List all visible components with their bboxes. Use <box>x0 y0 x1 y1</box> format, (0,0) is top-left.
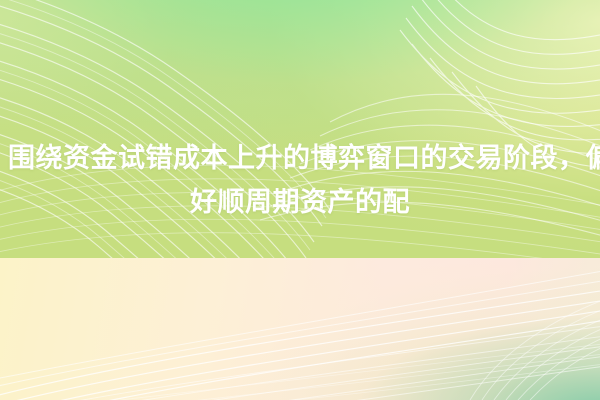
decoration-layer-bottom <box>0 258 600 400</box>
wave-flow-bottom-right-icon <box>0 258 600 400</box>
headline-text: 围绕资金试错成本上升的博弈窗口的交易阶段，偏 好顺周期资产的配 <box>0 136 600 224</box>
banner-image: 围绕资金试错成本上升的博弈窗口的交易阶段，偏 好顺周期资产的配 <box>0 0 600 400</box>
headline-line-1: 围绕资金试错成本上升的博弈窗口的交易阶段，偏 <box>8 136 600 180</box>
headline-line-2: 好顺周期资产的配 <box>0 180 600 224</box>
